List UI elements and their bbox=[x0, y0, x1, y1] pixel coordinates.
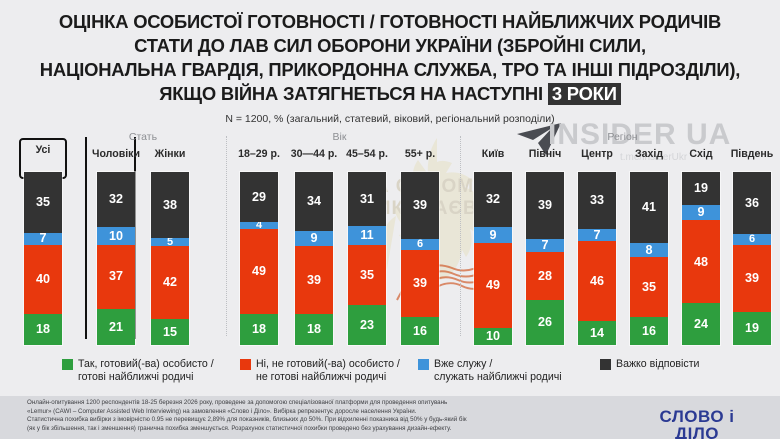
legend-item-hard[interactable]: Важко відповісти bbox=[600, 358, 699, 371]
bar-segment-west-hard: 41 bbox=[630, 172, 668, 243]
bar-segment-all-no: 40 bbox=[24, 245, 62, 314]
bar-segment-all-yes: 18 bbox=[24, 314, 62, 345]
bar-segment-age-45-54-hard: 31 bbox=[348, 172, 386, 226]
bar-segment-west-serve: 8 bbox=[630, 243, 668, 257]
bar-segment-kyiv-hard: 32 bbox=[474, 172, 512, 227]
bar-segment-age-55-yes: 16 bbox=[401, 317, 439, 345]
chart-subtitle: N = 1200, % (загальний, статевий, вікови… bbox=[0, 113, 780, 125]
bar-segment-center-serve: 7 bbox=[578, 229, 616, 241]
section-divider-3 bbox=[226, 136, 227, 336]
legend-label-serve: Вже служу / служать найближчі родичі bbox=[434, 358, 562, 384]
stacked-bar-center[interactable]: 3374614 bbox=[578, 172, 616, 345]
group-label-age: Вік bbox=[240, 131, 439, 143]
bar-segment-age-55-serve: 6 bbox=[401, 239, 439, 249]
bar-segment-women-yes: 15 bbox=[151, 319, 189, 345]
stacked-bar-age-18-29[interactable]: 2944918 bbox=[240, 172, 278, 345]
bar-segment-south-serve: 6 bbox=[733, 234, 771, 244]
bar-segment-north-yes: 26 bbox=[526, 300, 564, 345]
legend-label-no: Ні, не готовий(-ва) особисто / не готові… bbox=[256, 358, 400, 384]
bar-segment-age-18-29-yes: 18 bbox=[240, 314, 278, 345]
bar-segment-men-hard: 32 bbox=[97, 172, 135, 227]
group-label-region: Регіон bbox=[474, 131, 771, 143]
bar-segment-south-yes: 19 bbox=[733, 312, 771, 345]
stacked-bar-east[interactable]: 1994824 bbox=[682, 172, 720, 345]
footnote-line-2: «Lemur» (CAWI – Computer Assisted Web In… bbox=[27, 408, 567, 417]
bar-segment-women-hard: 38 bbox=[151, 172, 189, 238]
title-line-3: НАЦІОНАЛЬНА ГВАРДІЯ, ПРИКОРДОННА СЛУЖБА,… bbox=[0, 58, 780, 82]
column-header-women: Жінки bbox=[138, 148, 202, 160]
bar-segment-kyiv-no: 49 bbox=[474, 243, 512, 328]
bar-segment-age-30-44-hard: 34 bbox=[295, 172, 333, 231]
bar-segment-east-hard: 19 bbox=[682, 172, 720, 205]
bar-segment-women-serve: 5 bbox=[151, 238, 189, 247]
bar-segment-south-no: 39 bbox=[733, 245, 771, 312]
logo-text: СЛОВО і ДІЛО bbox=[638, 408, 756, 439]
bar-segment-north-serve: 7 bbox=[526, 239, 564, 251]
bar-segment-age-45-54-no: 35 bbox=[348, 245, 386, 306]
legend-swatch-no bbox=[240, 359, 251, 370]
title-line-4: ЯКЩО ВІЙНА ЗАТЯГНЕТЬСЯ НА НАСТУПНІ 3 РОК… bbox=[0, 82, 780, 106]
column-header-south: Південь bbox=[720, 148, 780, 160]
section-divider-4 bbox=[460, 136, 461, 336]
stacked-bar-south[interactable]: 3663919 bbox=[733, 172, 771, 345]
page-title: ОЦІНКА ОСОБИСТОЇ ГОТОВНОСТІ / ГОТОВНОСТІ… bbox=[0, 10, 780, 106]
stacked-bar-age-55[interactable]: 3963916 bbox=[401, 172, 439, 345]
stacked-bar-all[interactable]: 3574018 bbox=[24, 172, 62, 345]
bar-segment-age-45-54-serve: 11 bbox=[348, 226, 386, 245]
bar-segment-all-hard: 35 bbox=[24, 172, 62, 233]
bar-segment-north-no: 28 bbox=[526, 252, 564, 300]
bar-segment-south-hard: 36 bbox=[733, 172, 771, 234]
infographic-canvas: НА САМОМУ МИКОЛАЄВІ INSIDER UA t.me/insi… bbox=[0, 0, 780, 439]
stacked-bar-age-30-44[interactable]: 3493918 bbox=[295, 172, 333, 345]
bar-segment-age-30-44-yes: 18 bbox=[295, 314, 333, 345]
slovo-i-dilo-logo[interactable]: СЛОВО і ДІЛО bbox=[638, 408, 756, 439]
legend-item-serve[interactable]: Вже служу / служать найближчі родичі bbox=[418, 358, 562, 384]
footnote-line-3: Статистична похибка вибірки з імовірніст… bbox=[27, 416, 567, 425]
legend-item-yes[interactable]: Так, готовий(-ва) особисто / готові найб… bbox=[62, 358, 214, 384]
bar-segment-age-45-54-yes: 23 bbox=[348, 305, 386, 345]
title-highlight-term: 3 РОКИ bbox=[548, 83, 621, 105]
stacked-bar-north[interactable]: 3972826 bbox=[526, 172, 564, 345]
bar-segment-all-serve: 7 bbox=[24, 233, 62, 245]
stacked-bar-men[interactable]: 32103721 bbox=[97, 172, 135, 345]
bar-segment-east-yes: 24 bbox=[682, 303, 720, 345]
bar-segment-age-30-44-no: 39 bbox=[295, 246, 333, 313]
bar-segment-women-no: 42 bbox=[151, 246, 189, 319]
column-header-age-55: 55+ р. bbox=[388, 148, 452, 160]
stacked-bar-kyiv[interactable]: 3294910 bbox=[474, 172, 512, 345]
bar-segment-west-no: 35 bbox=[630, 257, 668, 318]
bar-segment-men-serve: 10 bbox=[97, 227, 135, 244]
bar-segment-men-yes: 21 bbox=[97, 309, 135, 345]
stacked-bar-women[interactable]: 3854215 bbox=[151, 172, 189, 345]
methodology-footnote: Онлайн-опитування 1200 респондентів 18-2… bbox=[27, 399, 567, 433]
legend-swatch-yes bbox=[62, 359, 73, 370]
bar-segment-center-yes: 14 bbox=[578, 321, 616, 345]
chart-legend: Так, готовий(-ва) особисто / готові найб… bbox=[0, 356, 780, 394]
stacked-bar-west[interactable]: 4183516 bbox=[630, 172, 668, 345]
group-label-stat: Стать bbox=[97, 131, 189, 143]
bar-segment-age-55-hard: 39 bbox=[401, 172, 439, 239]
legend-swatch-hard bbox=[600, 359, 611, 370]
bar-segment-east-serve: 9 bbox=[682, 205, 720, 221]
bar-segment-kyiv-yes: 10 bbox=[474, 328, 512, 345]
bar-segment-center-no: 46 bbox=[578, 241, 616, 321]
footnote-line-4: (як у бік збільшення, так і зменшення) г… bbox=[27, 425, 567, 434]
title-line-4-prefix: ЯКЩО ВІЙНА ЗАТЯГНЕТЬСЯ НА НАСТУПНІ bbox=[159, 83, 548, 104]
bar-segment-age-18-29-no: 49 bbox=[240, 229, 278, 314]
bar-segment-west-yes: 16 bbox=[630, 317, 668, 345]
title-line-2: СТАТИ ДО ЛАВ СИЛ ОБОРОНИ УКРАЇНИ (ЗБРОЙН… bbox=[0, 34, 780, 58]
bar-segment-age-18-29-hard: 29 bbox=[240, 172, 278, 222]
bar-segment-age-55-no: 39 bbox=[401, 250, 439, 317]
section-divider-1 bbox=[85, 137, 87, 339]
bar-segment-men-no: 37 bbox=[97, 245, 135, 309]
bar-segment-east-no: 48 bbox=[682, 220, 720, 303]
bar-segment-kyiv-serve: 9 bbox=[474, 227, 512, 243]
bar-segment-north-hard: 39 bbox=[526, 172, 564, 239]
footnote-line-1: Онлайн-опитування 1200 респондентів 18-2… bbox=[27, 399, 567, 408]
legend-label-yes: Так, готовий(-ва) особисто / готові найб… bbox=[78, 358, 214, 384]
stacked-bar-age-45-54[interactable]: 31113523 bbox=[348, 172, 386, 345]
title-line-1: ОЦІНКА ОСОБИСТОЇ ГОТОВНОСТІ / ГОТОВНОСТІ… bbox=[0, 10, 780, 34]
bar-segment-age-30-44-serve: 9 bbox=[295, 231, 333, 247]
legend-swatch-serve bbox=[418, 359, 429, 370]
legend-item-no[interactable]: Ні, не готовий(-ва) особисто / не готові… bbox=[240, 358, 400, 384]
bar-segment-age-18-29-serve: 4 bbox=[240, 222, 278, 229]
legend-label-hard: Важко відповісти bbox=[616, 358, 699, 371]
bar-segment-center-hard: 33 bbox=[578, 172, 616, 229]
